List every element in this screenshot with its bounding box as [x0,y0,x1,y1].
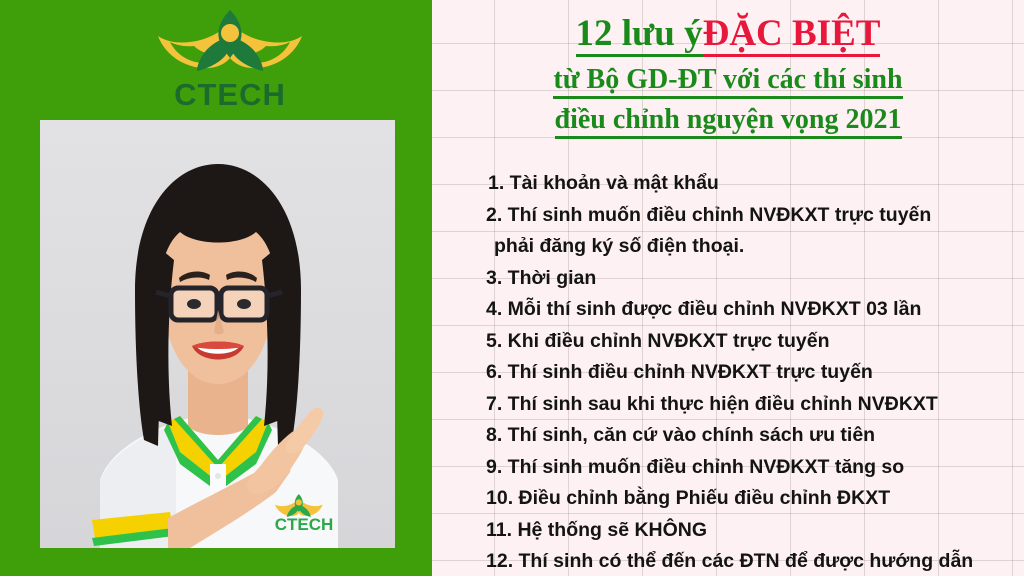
list-item: 5. Khi điều chỉnh NVĐKXT trực tuyến [432,326,1024,358]
title-line-2-text: từ Bộ GD-ĐT với các thí sinh [553,65,902,99]
left-brand-panel: CTECH [0,0,432,576]
list-item: 11. Hệ thống sẽ KHÔNG [432,515,1024,547]
logo-wordmark: CTECH [150,80,310,110]
notes-list: 1. Tài khoản và mật khẩu 2. Thí sinh muố… [432,168,1024,576]
ctech-lotus-logo-icon [150,6,310,82]
title-line-2: từ Bộ GD-ĐT với các thí sinh [432,65,1024,99]
ctech-logo: CTECH [150,6,310,110]
list-item: 9. Thí sinh muốn điều chỉnh NVĐKXT tăng … [432,452,1024,484]
list-item-continuation: phải đăng ký số điện thoại. [432,231,1024,263]
list-item: 3. Thời gian [432,263,1024,295]
list-item: 7. Thí sinh sau khi thực hiện điều chỉnh… [432,389,1024,421]
title-line-3-text: điều chỉnh nguyện vọng 2021 [555,105,902,139]
title-line-1-red: ĐẶC BIỆT [703,14,881,57]
title-line-1: 12 lưu ý ĐẶC BIỆT [432,14,1024,57]
title-line-1-green: 12 lưu ý [576,14,703,57]
student-photo: CTECH [40,120,395,548]
list-item: 8. Thí sinh, căn cứ vào chính sách ưu ti… [432,420,1024,452]
title-block: 12 lưu ý ĐẶC BIỆT từ Bộ GD-ĐT với các th… [432,14,1024,139]
slide-canvas: CTECH [0,0,1024,576]
title-line-3: điều chỉnh nguyện vọng 2021 [432,105,1024,139]
list-item: 12. Thí sinh có thể đến các ĐTN để được … [432,546,1024,576]
list-item: 6. Thí sinh điều chỉnh NVĐKXT trực tuyến [432,357,1024,389]
student-photo-illustration: CTECH [40,120,395,548]
list-item: 10. Điều chỉnh bằng Phiếu điều chỉnh ĐKX… [432,483,1024,515]
list-item: 1. Tài khoản và mật khẩu [432,168,1024,200]
list-item: 4. Mỗi thí sinh được điều chỉnh NVĐKXT 0… [432,294,1024,326]
list-item: 2. Thí sinh muốn điều chỉnh NVĐKXT trực … [432,200,1024,232]
shirt-logo-text: CTECH [275,515,334,534]
